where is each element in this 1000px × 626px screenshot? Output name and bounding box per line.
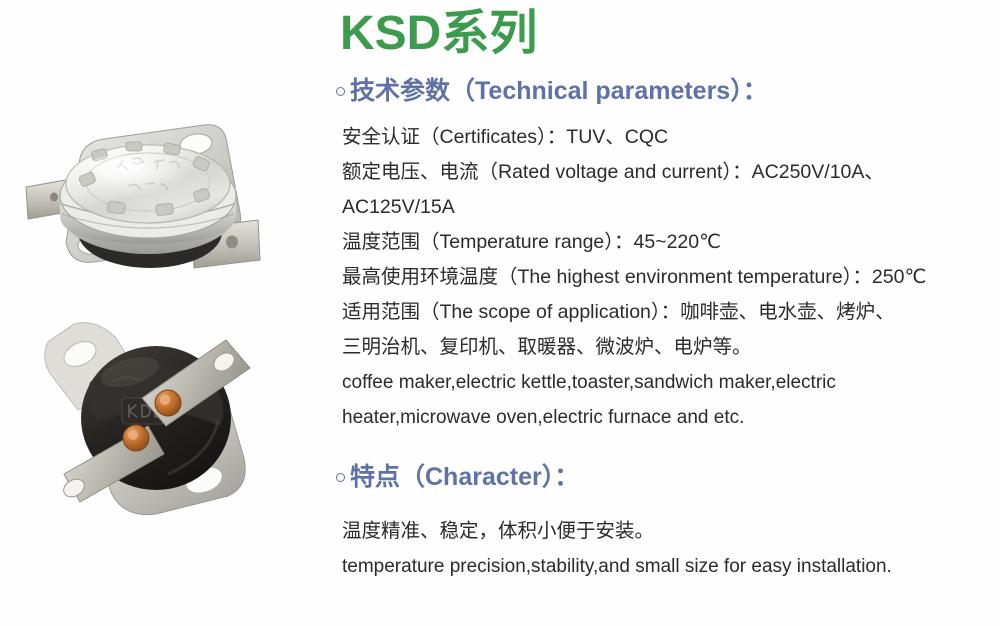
spec-line-scope-cn-2: 三明治机、复印机、取暖器、微波炉、电炉等。 — [342, 330, 994, 365]
ksd-thermostat-silver-cap-photo — [8, 92, 308, 297]
character-line-en: temperature precision,stability,and smal… — [342, 549, 994, 584]
spec-line-max-environment: 最高使用环境温度（The highest environment tempera… — [342, 260, 994, 295]
character-body: 温度精准、稳定，体积小便于安装。 temperature precision,s… — [342, 514, 994, 584]
spec-line-scope-cn-1: 适用范围（The scope of application）：咖啡壶、电水壶、烤… — [342, 295, 994, 330]
spec-line-rated-voltage-1: 额定电压、电流（Rated voltage and current）：AC250… — [342, 155, 994, 190]
ksd-thermostat-black-body-photo — [18, 302, 308, 534]
spec-line-certificates: 安全认证（Certificates）：TUV、CQC — [342, 120, 994, 155]
section-heading-character: 特点（Character）： — [336, 462, 579, 492]
section-heading-character-label: 特点（Character）： — [350, 463, 579, 491]
technical-parameters-body: 安全认证（Certificates）：TUV、CQC 额定电压、电流（Rated… — [342, 120, 994, 435]
circle-bullet-icon — [336, 87, 345, 96]
circle-bullet-icon — [336, 473, 345, 482]
spec-line-rated-voltage-2: AC125V/15A — [342, 190, 994, 225]
section-heading-technical-parameters-label: 技术参数（Technical parameters）： — [350, 77, 768, 105]
spec-line-scope-en-1: coffee maker,electric kettle,toaster,san… — [342, 365, 994, 400]
product-photo-column — [0, 0, 330, 626]
spec-line-scope-en-2: heater,microwave oven,electric furnace a… — [342, 400, 994, 435]
product-text-column: KSD系列 技术参数（Technical parameters）： 安全认证（C… — [336, 0, 996, 626]
product-datasheet-page: KSD系列 技术参数（Technical parameters）： 安全认证（C… — [0, 0, 1000, 626]
page-title: KSD系列 — [340, 8, 537, 61]
character-line-cn: 温度精准、稳定，体积小便于安装。 — [342, 514, 994, 549]
section-heading-technical-parameters: 技术参数（Technical parameters）： — [336, 76, 768, 106]
spec-line-temperature-range: 温度范围（Temperature range）：45~220℃ — [342, 225, 994, 260]
